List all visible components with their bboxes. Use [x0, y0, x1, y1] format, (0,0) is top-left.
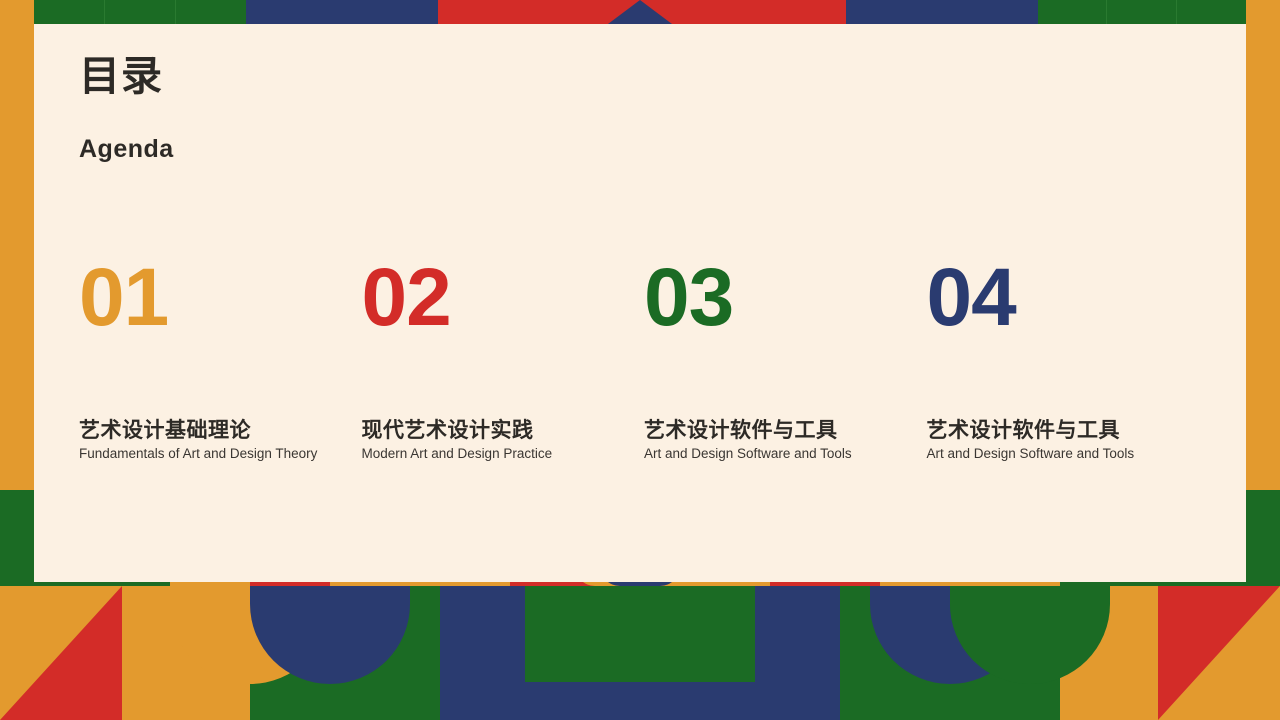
top-block-navy-right	[846, 0, 1038, 24]
top-triangle-navy-icon	[608, 0, 672, 24]
agenda-number-02: 02	[362, 259, 645, 337]
top-block-navy-left	[246, 0, 438, 24]
rail-left-orange	[0, 0, 34, 490]
agenda-title-cn-02: 现代艺术设计实践	[362, 414, 534, 444]
agenda-title-cn-03: 艺术设计软件与工具	[644, 414, 838, 444]
page-title-en: Agenda	[79, 137, 174, 162]
bottom-block-green-2	[410, 586, 440, 720]
agenda-item-04[interactable]: 04 艺术设计软件与工具 Art and Design Software and…	[927, 259, 1210, 499]
bottom-block-navy-4	[640, 682, 755, 720]
bottom-block-navy-5	[755, 586, 840, 720]
agenda-number-04: 04	[927, 259, 1210, 337]
top-divider-3	[1106, 0, 1107, 24]
agenda-item-01[interactable]: 01 艺术设计基础理论 Fundamentals of Art and Desi…	[79, 259, 362, 499]
rail-right-orange	[1246, 0, 1280, 490]
agenda-item-03[interactable]: 03 艺术设计软件与工具 Art and Design Software and…	[644, 259, 927, 499]
content-card: 目录 Agenda 01 艺术设计基础理论 Fundamentals of Ar…	[34, 24, 1246, 582]
top-color-strip	[0, 0, 1280, 24]
bottom-block-green-inner-left	[525, 586, 640, 682]
bottom-block-green-inner-right	[640, 586, 755, 682]
bottom-block-navy-2	[440, 586, 525, 720]
page-title-cn: 目录	[79, 56, 163, 97]
agenda-title-en-03: Art and Design Software and Tools	[644, 446, 852, 461]
bottom-triangle-red-right-icon	[1158, 586, 1280, 720]
top-divider-4	[1176, 0, 1177, 24]
agenda-title-en-02: Modern Art and Design Practice	[362, 446, 553, 461]
rail-left-green	[0, 490, 34, 582]
agenda-item-02[interactable]: 02 现代艺术设计实践 Modern Art and Design Practi…	[362, 259, 645, 499]
agenda-title-en-01: Fundamentals of Art and Design Theory	[79, 446, 317, 461]
bottom-color-mosaic	[0, 582, 1280, 720]
agenda-title-en-04: Art and Design Software and Tools	[927, 446, 1135, 461]
top-divider-2	[175, 0, 176, 24]
agenda-list: 01 艺术设计基础理论 Fundamentals of Art and Desi…	[79, 259, 1209, 499]
top-divider-1	[104, 0, 105, 24]
slide-agenda: 目录 Agenda 01 艺术设计基础理论 Fundamentals of Ar…	[0, 0, 1280, 720]
bottom-block-navy-3	[525, 682, 640, 720]
bottom-triangle-red-left-icon	[0, 586, 122, 720]
agenda-number-01: 01	[79, 259, 362, 337]
agenda-number-03: 03	[644, 259, 927, 337]
agenda-title-cn-04: 艺术设计软件与工具	[927, 414, 1121, 444]
top-block-green-right	[1038, 0, 1246, 24]
rail-right-green	[1246, 490, 1280, 582]
top-block-green-left	[34, 0, 246, 24]
agenda-title-cn-01: 艺术设计基础理论	[79, 414, 251, 444]
